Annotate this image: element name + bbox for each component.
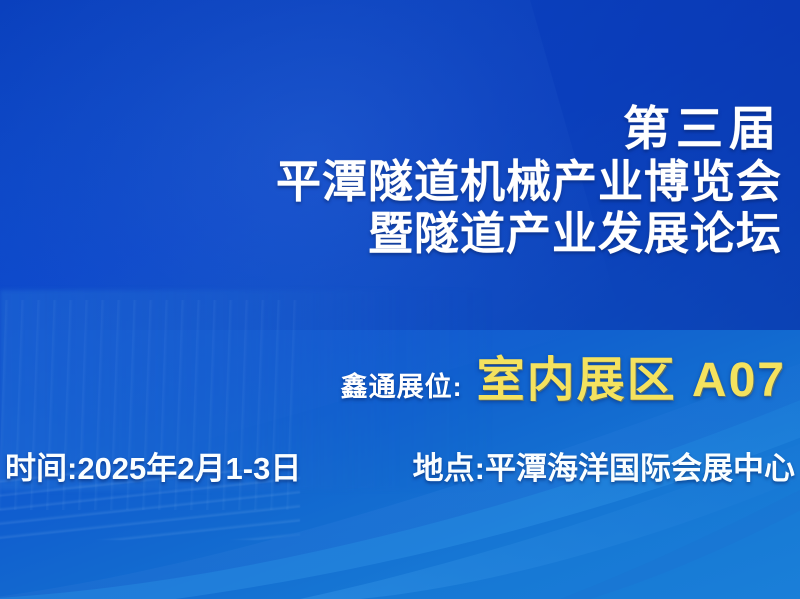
event-details: 时间:2025年2月1-3日 地点:平潭海洋国际会展中心 <box>5 443 795 488</box>
event-venue: 地点:平潭海洋国际会展中心 <box>413 443 795 488</box>
title-line-forum-name: 暨隧道产业发展论坛 <box>276 210 782 258</box>
booth-number: 室内展区 A07 <box>477 340 786 410</box>
booth-info: 鑫通展位: 室内展区 A07 <box>341 340 786 410</box>
event-date: 时间:2025年2月1-3日 <box>5 443 301 488</box>
title-line-edition: 第三届 <box>276 104 782 154</box>
title-line-expo-name: 平潭隧道机械产业博览会 <box>276 158 782 206</box>
exhibition-banner: 第三届 平潭隧道机械产业博览会 暨隧道产业发展论坛 鑫通展位: 室内展区 A07… <box>0 0 800 599</box>
booth-label: 鑫通展位: <box>341 365 463 404</box>
event-title: 第三届 平潭隧道机械产业博览会 暨隧道产业发展论坛 <box>276 104 782 257</box>
banner-content: 第三届 平潭隧道机械产业博览会 暨隧道产业发展论坛 鑫通展位: 室内展区 A07… <box>0 0 800 599</box>
